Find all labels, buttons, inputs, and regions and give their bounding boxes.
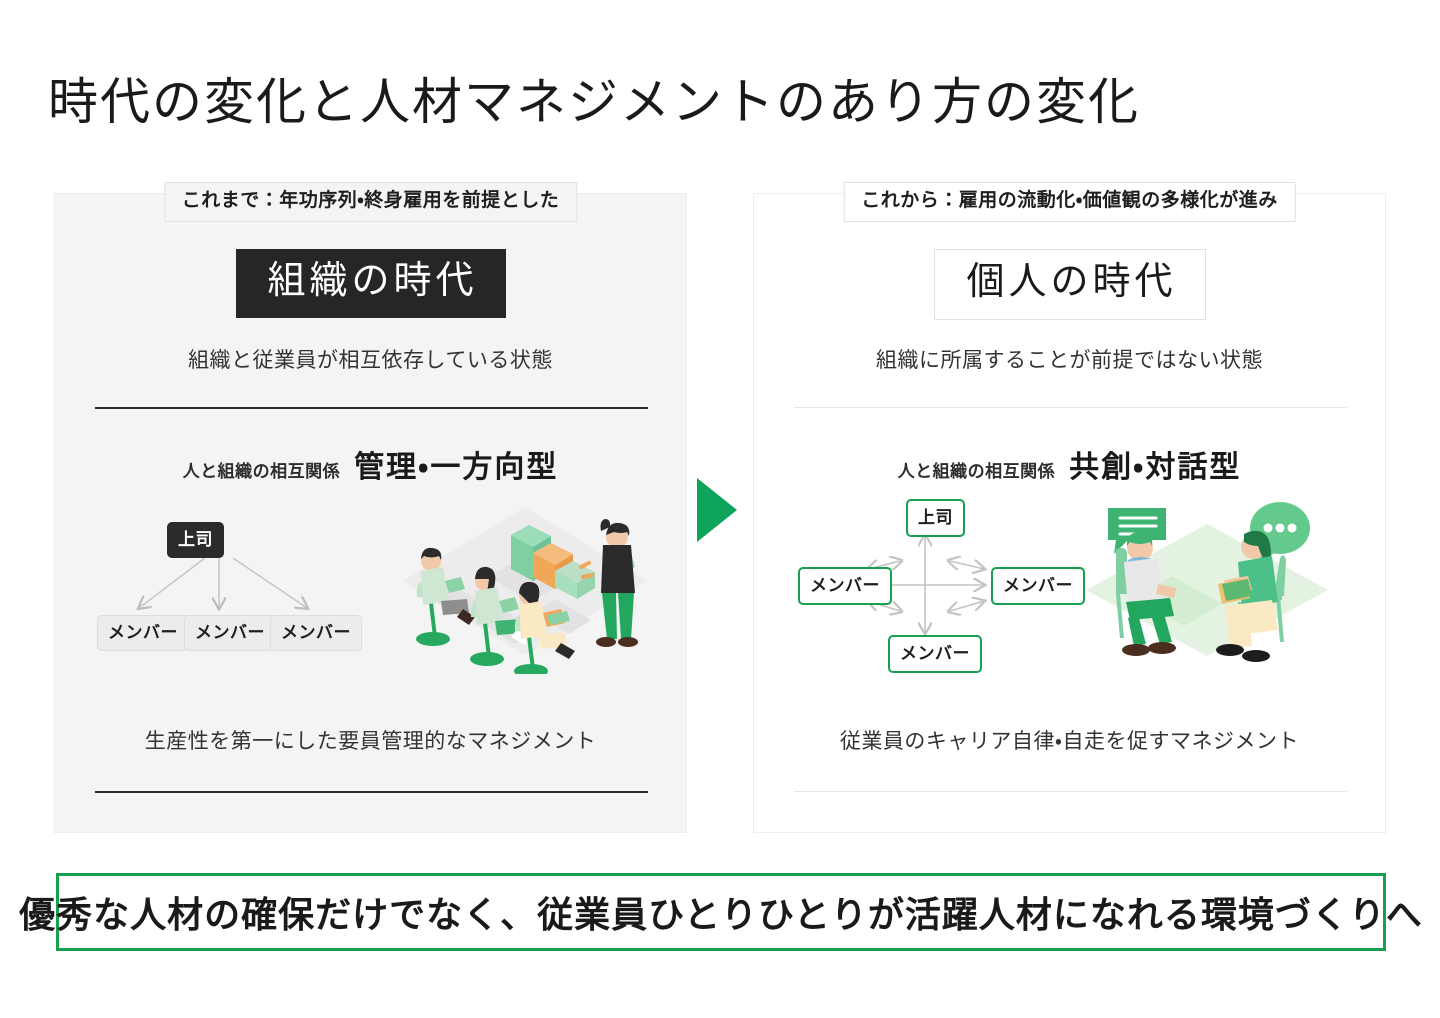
node-member-bottom: メンバー xyxy=(888,635,982,673)
panel-future-era-badge: 個人の時代 xyxy=(933,249,1205,320)
transition-arrow-icon xyxy=(697,478,737,542)
panel-future-state-text: 組織に所属することが前提ではない状態 xyxy=(754,344,1385,374)
panel-future-divider-top xyxy=(794,407,1347,408)
panel-past-relation-label: 人と組織の相互関係 xyxy=(183,457,341,482)
node-member-1: メンバー xyxy=(97,615,189,651)
panel-past-divider-bottom xyxy=(95,791,648,793)
node-member-right: メンバー xyxy=(991,567,1085,605)
node-boss: 上司 xyxy=(906,499,965,537)
panel-future-relation-label: 人と組織の相互関係 xyxy=(898,457,1056,482)
network-diagram-future: 上司 メンバー メンバー メンバー xyxy=(798,499,1098,674)
panel-past: これまで：年功序列・終身雇用を前提とした 組織の時代 組織と従業員が相互依存して… xyxy=(54,193,687,833)
hierarchy-diagram-past: 上司 メンバー メンバー メンバー xyxy=(97,522,387,662)
panel-future-eyebrow: これから：雇用の流動化・価値観の多様化が進み xyxy=(843,182,1295,222)
panel-future-mgmt-caption: 従業員のキャリア自律・自走を促すマネジメント xyxy=(754,725,1385,755)
page-title: 時代の変化と人材マネジメントのあり方の変化 xyxy=(48,62,1140,134)
node-member-left: メンバー xyxy=(798,567,892,605)
panel-past-divider-top xyxy=(95,407,648,409)
panel-past-era-badge: 組織の時代 xyxy=(235,249,505,318)
panel-future-divider-bottom xyxy=(794,791,1347,792)
conclusion-banner-text: 優秀な人材の確保だけでなく、従業員ひとりひとりが活躍人材になれる環境づくりへ xyxy=(19,886,1423,938)
conclusion-banner: 優秀な人材の確保だけでなく、従業員ひとりひとりが活躍人材になれる環境づくりへ xyxy=(56,873,1386,951)
panel-future-relation: 人と組織の相互関係 共創・対話型 xyxy=(754,442,1385,486)
node-boss: 上司 xyxy=(167,522,224,558)
panel-past-state-text: 組織と従業員が相互依存している状態 xyxy=(55,344,686,374)
node-member-2: メンバー xyxy=(184,615,276,651)
dialogue-conversation-illustration xyxy=(1072,484,1342,679)
panel-future-relation-type: 共創・対話型 xyxy=(1069,442,1241,486)
panel-future: これから：雇用の流動化・価値観の多様化が進み 個人の時代 組織に所属することが前… xyxy=(753,193,1386,833)
panel-past-relation: 人と組織の相互関係 管理・一方向型 xyxy=(55,442,686,486)
panel-past-mgmt-caption: 生産性を第一にした要員管理的なマネジメント xyxy=(55,725,686,755)
node-member-3: メンバー xyxy=(270,615,362,651)
panel-past-eyebrow: これまで：年功序列・終身雇用を前提とした xyxy=(164,182,577,222)
megaphone-presentation-illustration xyxy=(395,489,655,679)
panel-past-relation-type: 管理・一方向型 xyxy=(354,442,558,486)
